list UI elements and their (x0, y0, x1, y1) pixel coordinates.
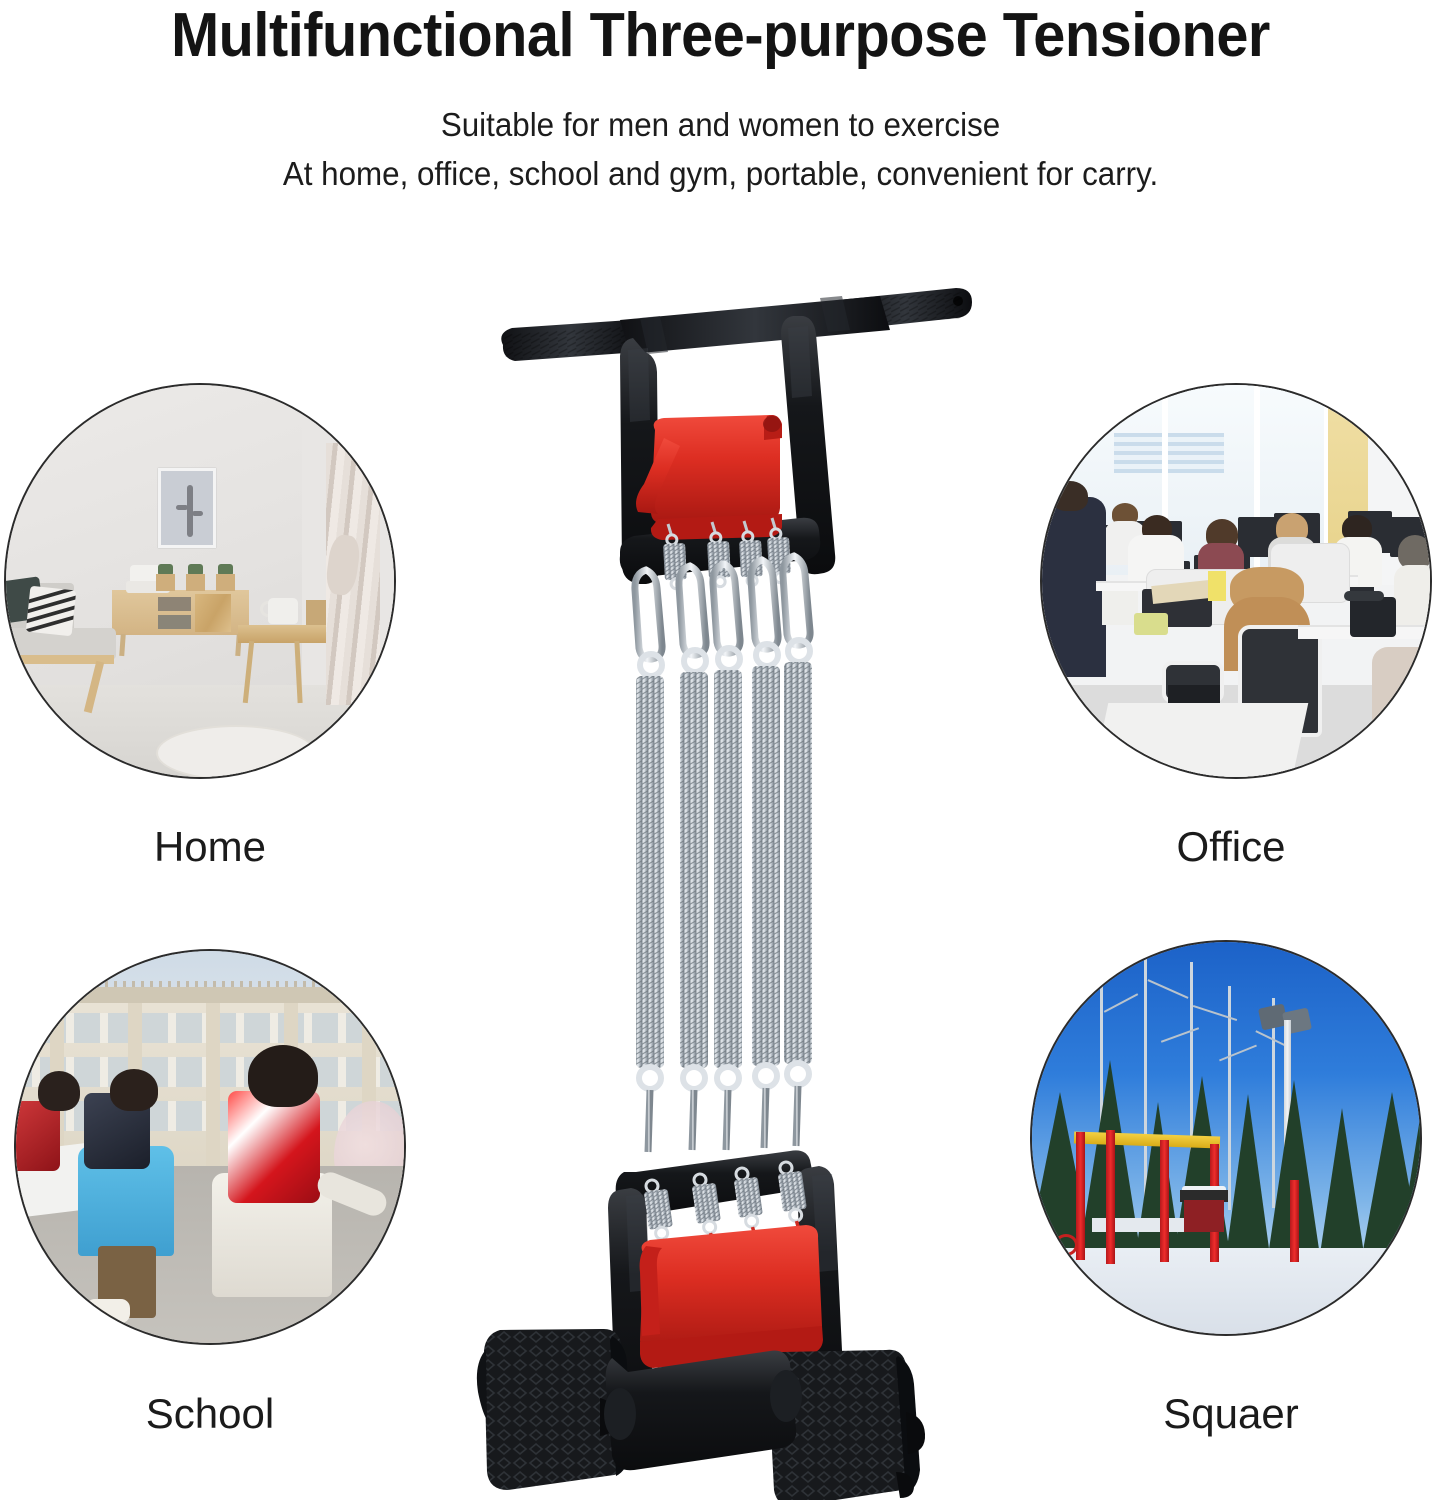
person-foreground-right (1372, 647, 1432, 737)
foot-pedal-right (761, 1350, 925, 1500)
wooden-sideboard (112, 590, 249, 635)
child-left-hair (38, 1071, 80, 1111)
child-right-backpack-red (228, 1091, 320, 1203)
scene-image-office (1040, 383, 1432, 779)
desk-phone (1350, 597, 1396, 637)
subtitle-line-2: At home, office, school and gym, portabl… (36, 149, 1405, 198)
bottom-small-springs (642, 1160, 810, 1255)
person-seated (1394, 565, 1432, 625)
plant-pot (156, 574, 175, 591)
scene-image-square (1030, 940, 1422, 1336)
child-middle-hair (110, 1069, 158, 1111)
pine-tree (1226, 1094, 1270, 1256)
child-left-backpack-red (14, 1101, 60, 1171)
child-right-hair (248, 1045, 318, 1107)
round-rug (156, 725, 316, 779)
building-roofline (14, 987, 406, 1003)
plant-pot (186, 574, 205, 591)
white-kettle (268, 598, 298, 624)
snack-bowl (1134, 613, 1168, 635)
foreground-desk (1092, 703, 1309, 779)
cactus-arm-right (192, 511, 203, 516)
phone-handset (1344, 591, 1384, 601)
framed-cactus-art (158, 468, 216, 548)
main-springs (635, 556, 812, 1152)
foot-pedal-left (477, 1329, 629, 1490)
header-block: Multifunctional Three-purpose Tensioner … (0, 0, 1441, 198)
page-title: Multifunctional Three-purpose Tensioner (50, 0, 1390, 70)
caption-home: Home (0, 823, 420, 871)
bottom-red-grip (640, 1225, 823, 1368)
sideboard-door (195, 594, 231, 632)
red-trash-bin (1184, 1200, 1224, 1232)
red-post (1160, 1140, 1169, 1262)
scene-image-school (14, 949, 406, 1345)
cactus-arm-left (176, 505, 188, 510)
scene-image-home (4, 383, 396, 779)
spring (713, 564, 742, 1150)
patterned-cushion (26, 586, 77, 637)
plant-pot (216, 574, 235, 591)
bottom-frame (608, 1150, 844, 1434)
caption-school: School (0, 1390, 420, 1438)
person-hair (1052, 481, 1088, 511)
coffee-table (238, 625, 340, 643)
top-small-springs (662, 517, 791, 589)
pine-tree (1320, 1108, 1364, 1254)
pine-tree (1398, 1118, 1422, 1258)
sideboard-shelf-bottom (158, 615, 191, 629)
top-red-grip (636, 415, 782, 540)
red-post (1106, 1130, 1115, 1264)
window-reflection (1114, 433, 1224, 473)
foot-pedals (477, 1329, 925, 1500)
caption-office: Office (1021, 823, 1441, 871)
storage-box (1102, 591, 1138, 625)
building-column (206, 1003, 220, 1193)
red-ring-equipment (1054, 1234, 1078, 1256)
child-middle-shoe (86, 1299, 130, 1323)
subtitle-block: Suitable for men and women to exercise A… (36, 100, 1405, 198)
person-hair (1398, 535, 1432, 569)
red-post (1290, 1180, 1299, 1262)
subtitle-line-1: Suitable for men and women to exercise (36, 100, 1405, 149)
caption-square: Squaer (1021, 1390, 1441, 1438)
spring (635, 570, 664, 1152)
spring (679, 566, 708, 1150)
sideboard-shelf-top (158, 597, 191, 611)
top-handle-bar (501, 286, 972, 361)
top-frame (620, 316, 835, 584)
spring (783, 556, 812, 1146)
spring (751, 560, 780, 1148)
sticky-notes (1208, 571, 1226, 601)
snow-ground (1032, 1248, 1422, 1336)
